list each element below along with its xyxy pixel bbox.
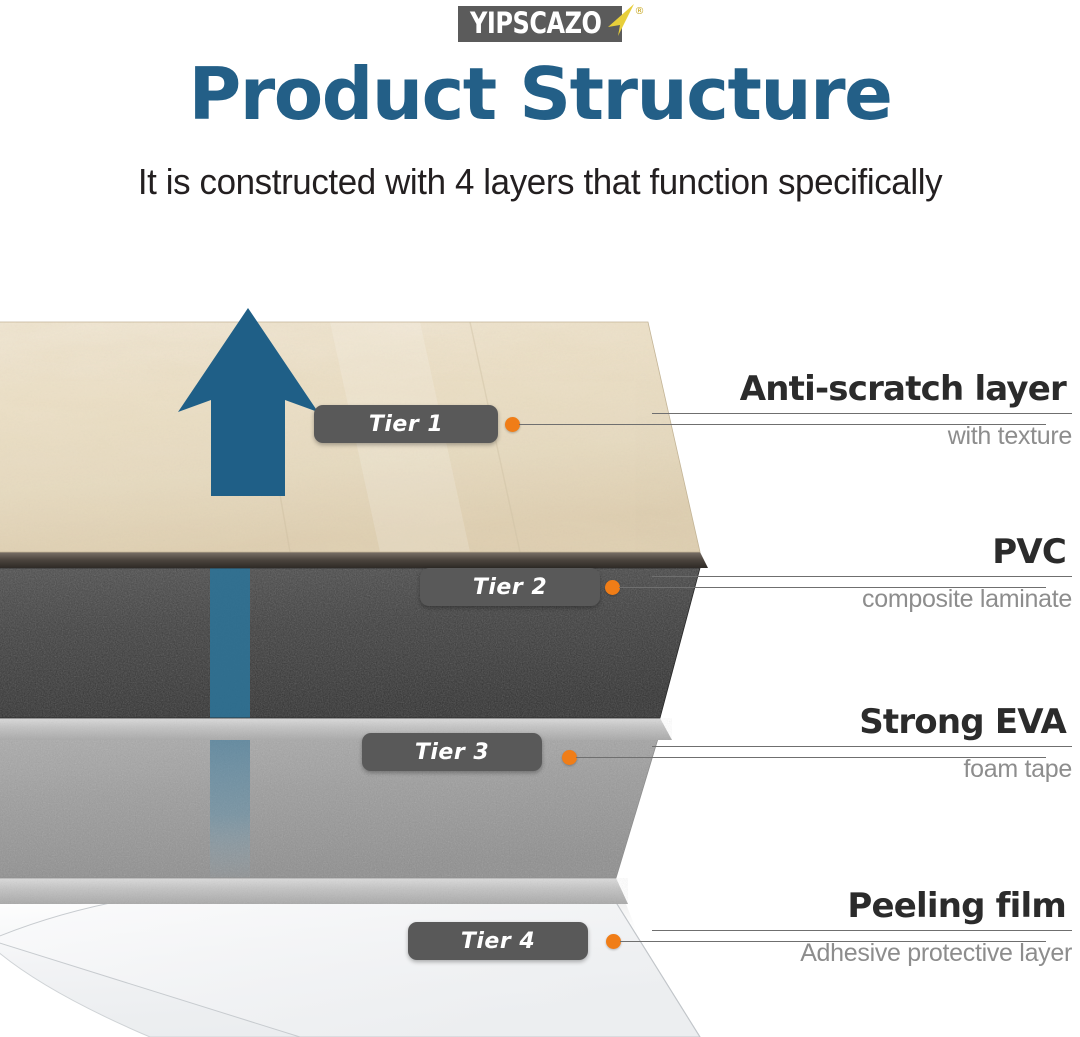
tier-badge-4[interactable]: Tier 4 xyxy=(408,922,588,960)
callout-title-2: PVC xyxy=(992,535,1072,569)
tier-badge-3[interactable]: Tier 3 xyxy=(362,733,542,771)
callout-title-4: Peeling film xyxy=(847,889,1072,923)
logo-bar: YIPSCAZO ® xyxy=(458,6,623,42)
registered-mark: ® xyxy=(634,6,644,17)
tier-connector-dot-1 xyxy=(505,417,520,432)
callout-title-3-text: Strong EVA xyxy=(859,702,1066,742)
callout-subtitle-2: composite laminate xyxy=(652,585,1072,614)
callout-title-1: Anti-scratch layer xyxy=(740,372,1072,406)
logo-text: YIPSCAZO xyxy=(470,9,602,38)
callout-tier-2: PVC composite laminate xyxy=(652,535,1072,614)
callout-tier-3: Strong EVA foam tape xyxy=(652,705,1072,784)
brand-logo: YIPSCAZO ® xyxy=(0,6,1080,42)
callout-subtitle-4: Adhesive protective layer xyxy=(652,939,1072,968)
callout-rule-4 xyxy=(652,930,1072,931)
layer-peel-film xyxy=(0,885,700,1037)
callout-tier-4: Peeling film Adhesive protective layer xyxy=(652,889,1072,968)
tier-connector-dot-3 xyxy=(562,750,577,765)
callout-title-4-text: Peeling film xyxy=(847,886,1066,926)
page-subtitle: It is constructed with 4 layers that fun… xyxy=(16,160,1064,203)
callout-title-1-text: Anti-scratch layer xyxy=(740,369,1066,409)
callout-title-3: Strong EVA xyxy=(859,705,1072,739)
callout-subtitle-1: with texture xyxy=(652,422,1072,451)
tier-badge-1[interactable]: Tier 1 xyxy=(314,405,498,443)
layer-pvc-core xyxy=(0,568,730,740)
product-structure-infographic: YIPSCAZO ® Product Structure It is const… xyxy=(0,0,1080,1037)
page-title: Product Structure xyxy=(0,58,1080,130)
tier-badge-2[interactable]: Tier 2 xyxy=(420,568,600,606)
callout-tier-1: Anti-scratch layer with texture xyxy=(652,372,1072,451)
tier-connector-dot-4 xyxy=(606,934,621,949)
callout-title-2-text: PVC xyxy=(992,532,1066,572)
logo-spark-icon xyxy=(604,3,636,37)
tier-connector-dot-2 xyxy=(605,580,620,595)
callout-rule-2 xyxy=(652,576,1072,577)
callout-subtitle-3: foam tape xyxy=(652,755,1072,784)
callout-rule-1 xyxy=(652,413,1072,414)
callout-rule-3 xyxy=(652,746,1072,747)
